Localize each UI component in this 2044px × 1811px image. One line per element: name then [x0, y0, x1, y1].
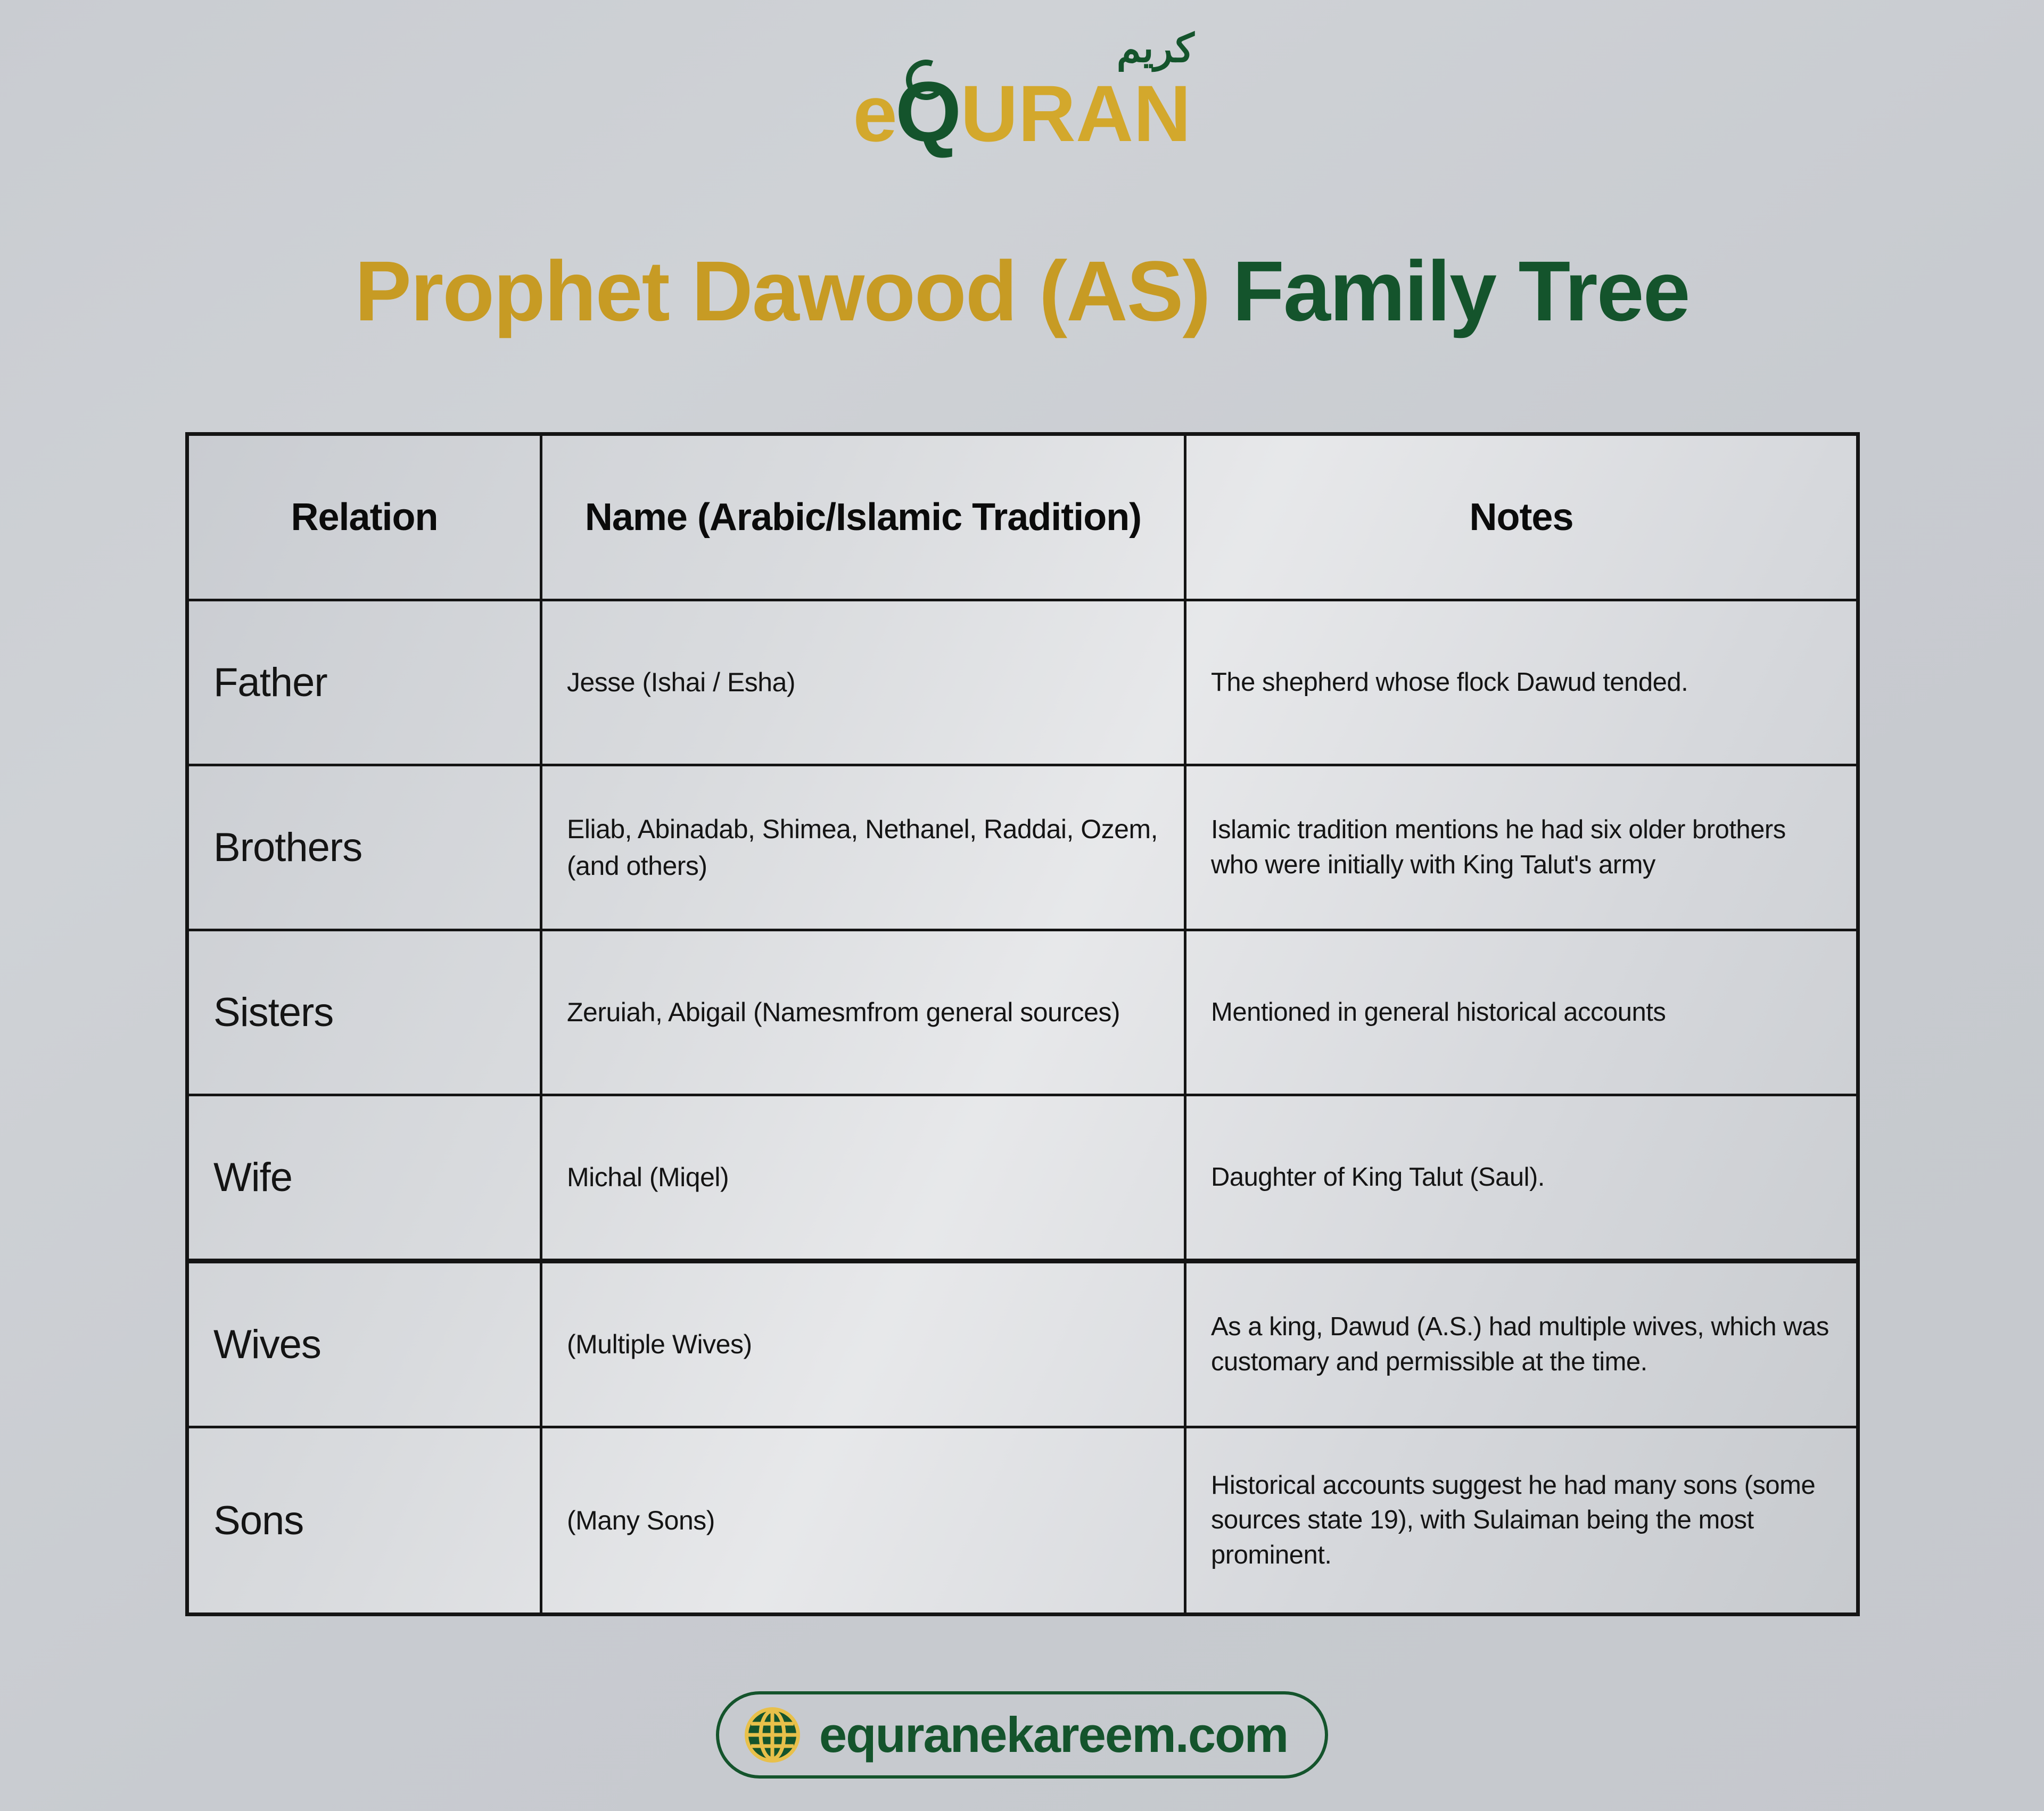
name-value: (Multiple Wives) [567, 1326, 1159, 1363]
table-row: Sisters Zeruiah, Abigail (Namesmfrom gen… [189, 931, 1856, 1096]
cell-name: (Many Sons) [542, 1428, 1186, 1612]
relation-label: Father [213, 659, 515, 706]
notes-value: The shepherd whose flock Dawud tended. [1211, 665, 1832, 700]
logo-letter-e: e [853, 73, 895, 153]
logo-letter-q: Q [895, 69, 960, 154]
equran-logo: e Q URAN كريم [853, 69, 1191, 154]
brand-logo: e Q URAN كريم [0, 69, 2044, 154]
header-relation: Relation [189, 436, 542, 599]
table-row: Sons (Many Sons) Historical accounts sug… [189, 1428, 1856, 1612]
cell-notes: As a king, Dawud (A.S.) had multiple wiv… [1186, 1263, 1856, 1426]
name-value: Jesse (Ishai / Esha) [567, 664, 1159, 701]
cell-notes: Mentioned in general historical accounts [1186, 931, 1856, 1094]
cell-name: Michal (Miqel) [542, 1096, 1186, 1259]
name-value: Michal (Miqel) [567, 1159, 1159, 1196]
title-green-part: Family Tree [1210, 243, 1689, 338]
cell-notes: Islamic tradition mentions he had six ol… [1186, 766, 1856, 929]
notes-value: As a king, Dawud (A.S.) had multiple wiv… [1211, 1310, 1832, 1379]
name-value: Zeruiah, Abigail (Namesmfrom general sou… [567, 994, 1159, 1031]
relation-label: Wives [213, 1321, 515, 1368]
notes-value: Historical accounts suggest he had many … [1211, 1468, 1832, 1572]
cell-name: (Multiple Wives) [542, 1263, 1186, 1426]
cell-name: Zeruiah, Abigail (Namesmfrom general sou… [542, 931, 1186, 1094]
relation-label: Sisters [213, 989, 515, 1036]
website-pill[interactable]: equranekareem.com [716, 1691, 1328, 1779]
cell-name: Jesse (Ishai / Esha) [542, 601, 1186, 764]
cell-relation: Brothers [189, 766, 542, 929]
title-gold-part: Prophet Dawood (AS) [355, 243, 1209, 338]
cell-notes: The shepherd whose flock Dawud tended. [1186, 601, 1856, 764]
page-title: Prophet Dawood (AS) Family Tree [0, 242, 2044, 340]
cell-notes: Daughter of King Talut (Saul). [1186, 1096, 1856, 1259]
name-value: Eliab, Abinadab, Shimea, Nethanel, Radda… [567, 811, 1159, 884]
globe-icon [744, 1706, 801, 1764]
logo-word-uran: URAN [960, 73, 1191, 153]
relation-label: Sons [213, 1498, 515, 1544]
cell-relation: Sisters [189, 931, 542, 1094]
table-row: Wife Michal (Miqel) Daughter of King Tal… [189, 1096, 1856, 1263]
notes-value: Islamic tradition mentions he had six ol… [1211, 813, 1832, 882]
header-name: Name (Arabic/Islamic Tradition) [542, 436, 1186, 599]
relation-label: Brothers [213, 824, 515, 871]
table-row: Brothers Eliab, Abinadab, Shimea, Nethan… [189, 766, 1856, 931]
table-header-row: Relation Name (Arabic/Islamic Tradition)… [189, 436, 1856, 601]
footer: equranekareem.com [0, 1691, 2044, 1779]
notes-value: Daughter of King Talut (Saul). [1211, 1160, 1832, 1195]
cell-relation: Wives [189, 1263, 542, 1426]
header-notes: Notes [1186, 436, 1856, 599]
cell-notes: Historical accounts suggest he had many … [1186, 1428, 1856, 1612]
cell-relation: Wife [189, 1096, 542, 1259]
relation-label: Wife [213, 1154, 515, 1201]
website-url[interactable]: equranekareem.com [819, 1710, 1288, 1760]
logo-arabic-kareem: كريم [1117, 29, 1194, 68]
cell-relation: Sons [189, 1428, 542, 1612]
name-value: (Many Sons) [567, 1502, 1159, 1539]
family-tree-table: Relation Name (Arabic/Islamic Tradition)… [185, 432, 1860, 1616]
table-row: Wives (Multiple Wives) As a king, Dawud … [189, 1263, 1856, 1428]
table-row: Father Jesse (Ishai / Esha) The shepherd… [189, 601, 1856, 766]
cell-name: Eliab, Abinadab, Shimea, Nethanel, Radda… [542, 766, 1186, 929]
notes-value: Mentioned in general historical accounts [1211, 995, 1832, 1030]
cell-relation: Father [189, 601, 542, 764]
